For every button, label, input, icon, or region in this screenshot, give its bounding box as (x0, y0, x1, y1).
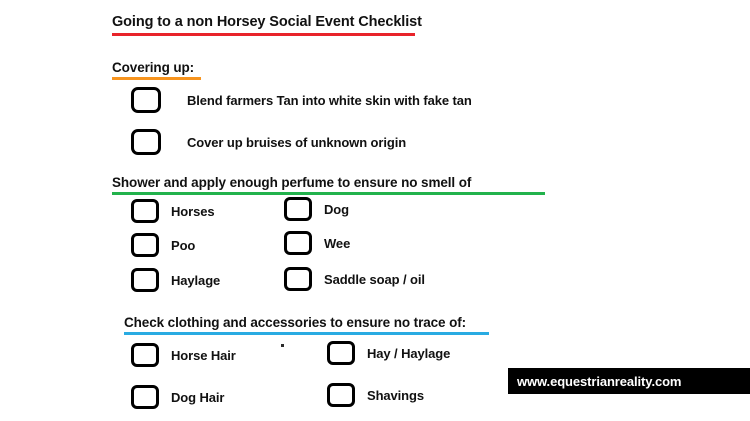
list-item[interactable]: Cover up bruises of unknown origin (131, 129, 406, 155)
checkbox-icon[interactable] (327, 341, 355, 365)
list-item[interactable]: Haylage (131, 268, 220, 292)
list-item[interactable]: Blend farmers Tan into white skin with f… (131, 87, 472, 113)
section-underline-rule-covering-up (112, 77, 201, 80)
checkbox-icon[interactable] (131, 87, 161, 113)
checkbox-icon[interactable] (131, 268, 159, 292)
list-item[interactable]: Shavings (327, 383, 424, 407)
stray-dot-artifact (281, 344, 284, 347)
list-item-label: Wee (324, 236, 350, 251)
checkbox-icon[interactable] (131, 233, 159, 257)
list-item[interactable]: Dog (284, 197, 349, 221)
watermark-url: www.equestrianreality.com (508, 374, 681, 389)
list-item-label: Poo (171, 238, 195, 253)
list-item[interactable]: Wee (284, 231, 350, 255)
list-item-label: Horse Hair (171, 348, 236, 363)
list-item-label: Dog Hair (171, 390, 224, 405)
list-item[interactable]: Dog Hair (131, 385, 224, 409)
list-item-label: Saddle soap / oil (324, 272, 425, 287)
list-item-label: Horses (171, 204, 214, 219)
list-item-label: Haylage (171, 273, 220, 288)
list-item-label: Blend farmers Tan into white skin with f… (187, 93, 472, 108)
checkbox-icon[interactable] (284, 267, 312, 291)
checkbox-icon[interactable] (284, 231, 312, 255)
list-item-label: Hay / Haylage (367, 346, 450, 361)
section-heading-check-clothing: Check clothing and accessories to ensure… (124, 315, 466, 330)
checkbox-icon[interactable] (131, 199, 159, 223)
checkbox-icon[interactable] (327, 383, 355, 407)
list-item-label: Dog (324, 202, 349, 217)
page-title: Going to a non Horsey Social Event Check… (112, 14, 422, 30)
checkbox-icon[interactable] (284, 197, 312, 221)
list-item-label: Cover up bruises of unknown origin (187, 135, 406, 150)
title-underline-rule (112, 33, 415, 36)
section-underline-rule-check-clothing (124, 332, 489, 335)
checkbox-icon[interactable] (131, 343, 159, 367)
list-item[interactable]: Horse Hair (131, 343, 236, 367)
section-underline-rule-shower (112, 192, 545, 195)
section-heading-covering-up: Covering up: (112, 60, 194, 75)
list-item-label: Shavings (367, 388, 424, 403)
section-heading-shower: Shower and apply enough perfume to ensur… (112, 175, 471, 190)
watermark-banner: www.equestrianreality.com (508, 368, 750, 394)
list-item[interactable]: Hay / Haylage (327, 341, 450, 365)
list-item[interactable]: Poo (131, 233, 195, 257)
checkbox-icon[interactable] (131, 129, 161, 155)
checkbox-icon[interactable] (131, 385, 159, 409)
list-item[interactable]: Horses (131, 199, 214, 223)
list-item[interactable]: Saddle soap / oil (284, 267, 425, 291)
checklist-document: Going to a non Horsey Social Event Check… (0, 0, 750, 421)
